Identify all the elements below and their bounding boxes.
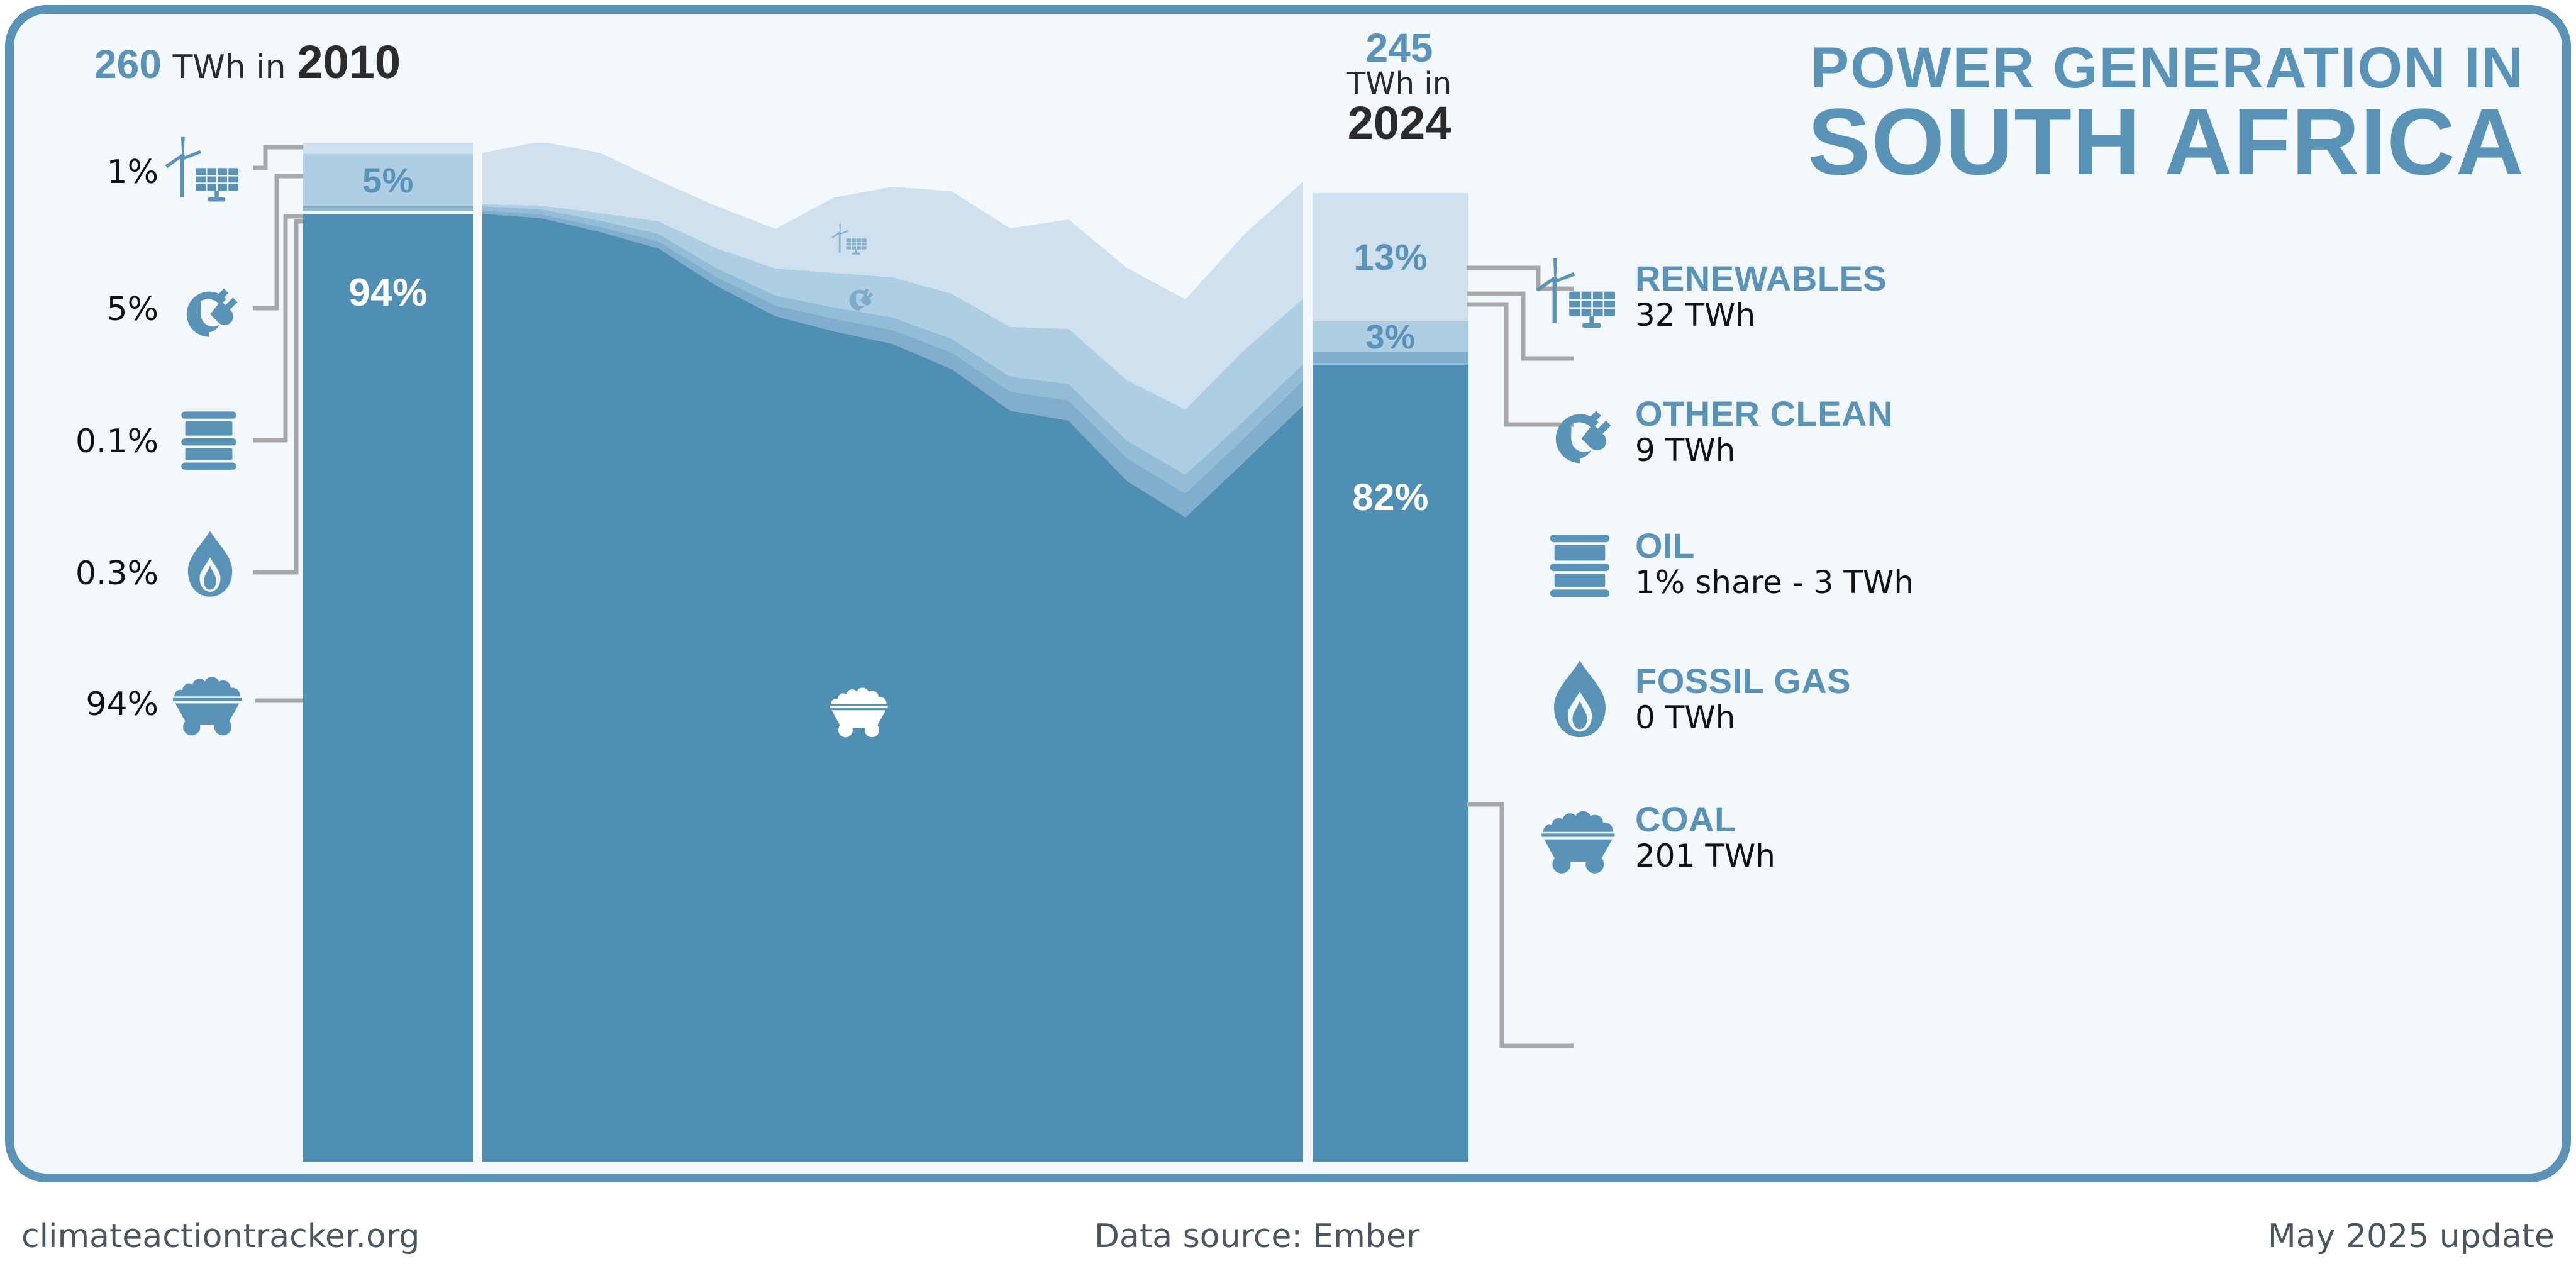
other-clean-icon [171, 270, 247, 346]
header-2010-value: 260 [94, 42, 162, 87]
bar-2010-seg-coal: 94% [303, 214, 473, 1162]
legend-value-oil: 1% share - 3 TWh [1635, 565, 1914, 601]
header-2024: 245 TWh in 2024 [1321, 28, 1478, 147]
legend-item-other-clean[interactable]: OTHER CLEAN 9 TWh [1536, 388, 1893, 476]
legend-item-coal[interactable]: COAL 201 TWh [1536, 794, 1775, 882]
gas-flame-icon [180, 530, 240, 599]
footer-update: May 2025 update [2268, 1218, 2555, 1255]
stacked-area-chart [482, 143, 1303, 1162]
title-line-1: POWER GENERATION IN [1807, 40, 2524, 96]
footer-source: Data source: Ember [1094, 1218, 1419, 1255]
legend-item-oil[interactable]: OIL 1% share - 3 TWh [1536, 520, 1914, 608]
legend-item-fossil-gas[interactable]: FOSSIL GAS 0 TWh [1536, 655, 1851, 743]
coal-cart-icon [1536, 794, 1624, 882]
oil-barrel-icon [1536, 520, 1624, 608]
bar-2024: 13% 3% 82% [1313, 193, 1468, 1162]
axis-label-oil: 0.1% [20, 423, 158, 460]
title-line-2: SOUTH AFRICA [1807, 96, 2524, 188]
legend-name-other-clean: OTHER CLEAN [1635, 396, 1893, 433]
bar-2024-seg-other-clean: 3% [1313, 321, 1468, 352]
legend-name-oil: OIL [1635, 528, 1914, 565]
wind-solar-icon [165, 132, 247, 214]
bar-2024-seg-coal: 82% [1313, 365, 1468, 1162]
header-2010-unit: TWh in [173, 48, 286, 86]
footer: climateactiontracker.org Data source: Em… [0, 1197, 2576, 1288]
bar-2024-label-renewables: 13% [1353, 236, 1428, 279]
bar-2024-label-coal: 82% [1352, 475, 1429, 519]
axis-label-renewables: 1% [33, 153, 158, 191]
header-2024-year: 2024 [1321, 99, 1478, 147]
wind-solar-icon [1536, 253, 1624, 341]
legend-name-renewables: RENEWABLES [1635, 260, 1887, 297]
other-clean-icon [1536, 388, 1624, 476]
header-2024-unit: TWh in [1321, 69, 1478, 99]
legend-value-renewables: 32 TWh [1635, 297, 1887, 334]
bar-2024-seg-oil [1313, 352, 1468, 363]
page-title: POWER GENERATION IN SOUTH AFRICA [1807, 40, 2524, 188]
bar-2010-label-other-clean: 5% [362, 160, 414, 201]
bar-2010: 5% 94% [303, 143, 473, 1162]
footer-site[interactable]: climateactiontracker.org [21, 1218, 419, 1255]
bar-2010-seg-other-clean: 5% [303, 154, 473, 206]
infographic-root: 260 TWh in 2010 245 TWh in 2024 POWER GE… [0, 0, 2576, 1288]
legend-name-coal: COAL [1635, 801, 1775, 838]
legend-name-fossil-gas: FOSSIL GAS [1635, 663, 1851, 700]
header-2010: 260 TWh in 2010 [94, 35, 401, 89]
coal-cart-icon [170, 668, 248, 736]
axis-label-other-clean: 5% [33, 291, 158, 328]
axis-label-coal: 94% [33, 686, 158, 723]
oil-barrel-icon [176, 406, 241, 472]
header-2024-value: 245 [1321, 28, 1478, 69]
main-panel: 260 TWh in 2010 245 TWh in 2024 POWER GE… [5, 5, 2571, 1182]
bar-2024-label-other-clean: 3% [1365, 318, 1415, 357]
header-2010-year: 2010 [297, 36, 401, 88]
bar-2024-seg-renewables: 13% [1313, 193, 1468, 321]
gas-flame-icon [1536, 655, 1624, 743]
legend-value-coal: 201 TWh [1635, 838, 1775, 875]
axis-label-gas: 0.3% [20, 555, 158, 592]
bar-2010-label-coal: 94% [348, 270, 428, 315]
bar-2010-seg-renewables [303, 143, 473, 154]
legend-value-fossil-gas: 0 TWh [1635, 700, 1851, 736]
legend-item-renewables[interactable]: RENEWABLES 32 TWh [1536, 253, 1887, 341]
bar-2010-seg-gas [303, 208, 473, 211]
legend-value-other-clean: 9 TWh [1635, 433, 1893, 469]
